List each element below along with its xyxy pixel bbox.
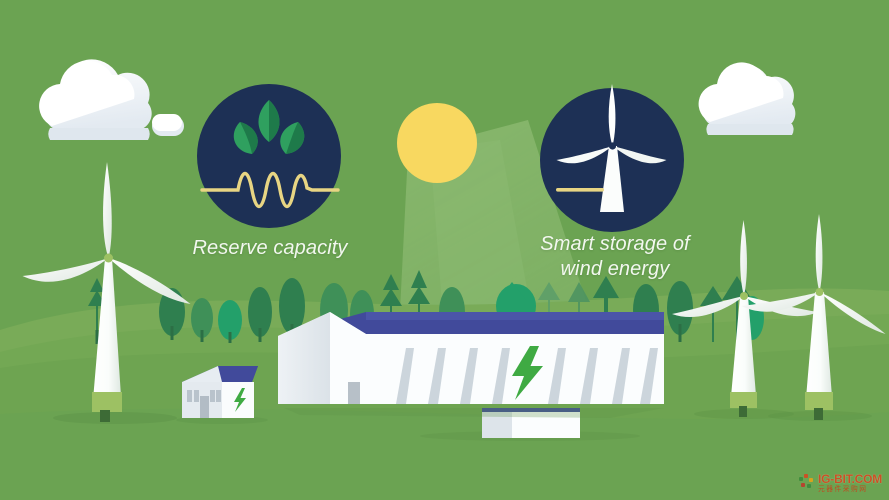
ig-bit-logo-icon: [799, 474, 815, 492]
scene-vector: [0, 0, 889, 500]
cloud-small-left: [152, 114, 184, 136]
watermark-subtitle: 元器件采购网: [818, 486, 879, 493]
watermark-text: IG-BIT.COM 元器件采购网: [818, 473, 882, 493]
illustration-canvas: Reserve capacity Smart storage of wind e…: [0, 0, 889, 500]
watermark: IG-BIT.COM 元器件采购网: [796, 470, 885, 496]
sun-icon: [397, 103, 477, 183]
watermark-domain: IG-BIT.COM: [818, 473, 882, 485]
gold-dash: [556, 188, 604, 192]
leaf-waveform-icon: [197, 84, 341, 228]
